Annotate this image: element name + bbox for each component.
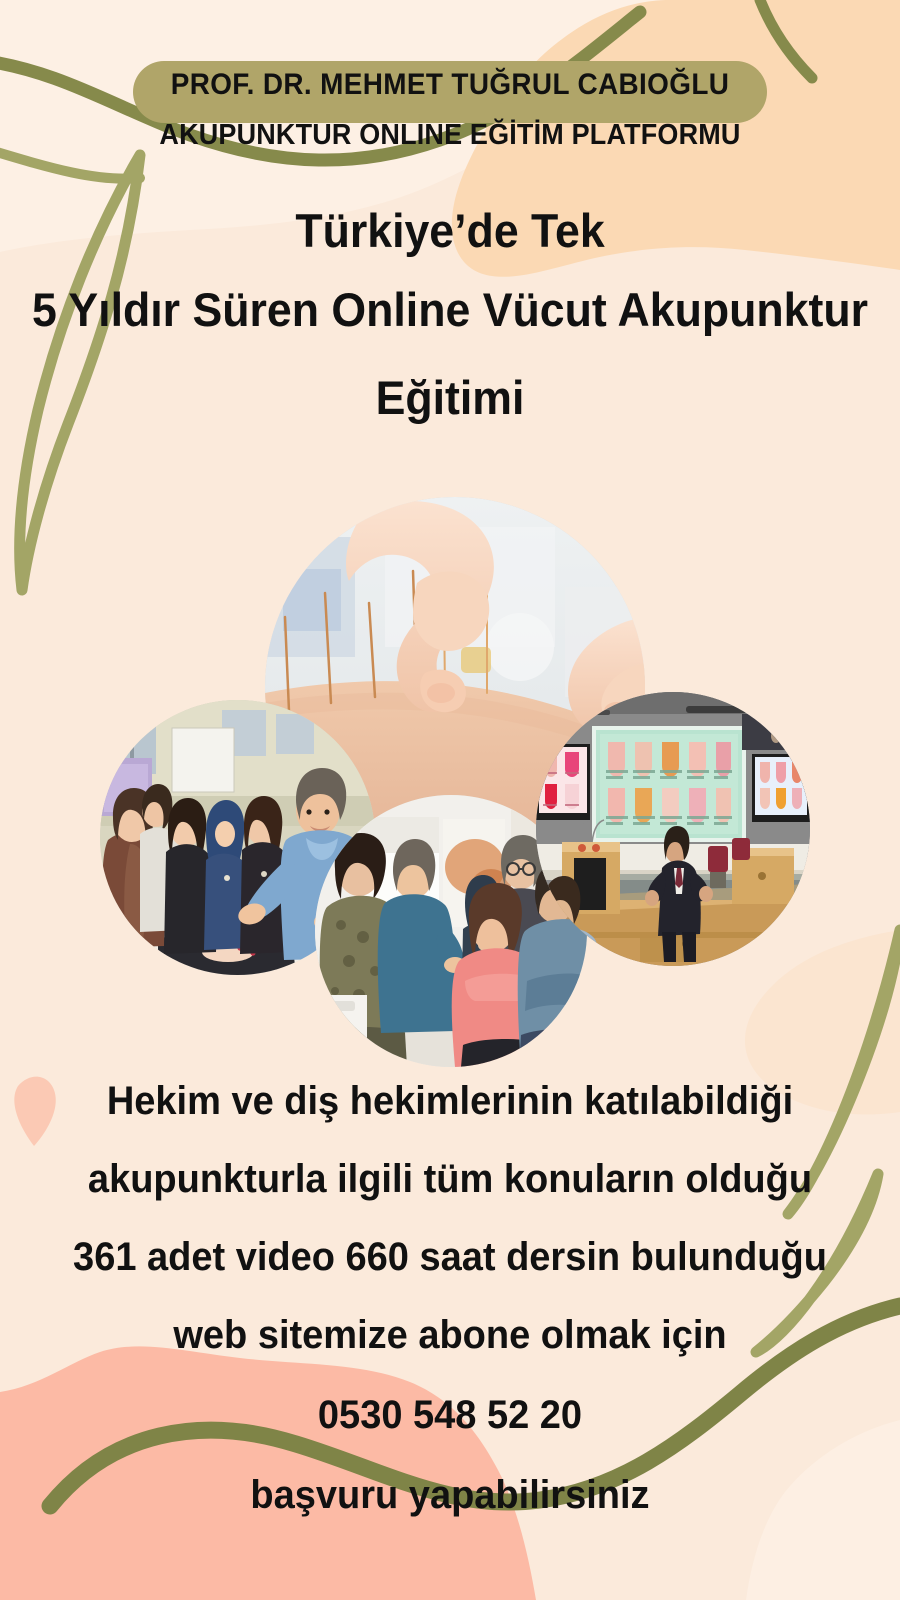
body-line-3: 361 adet video 660 saat dersin bulunduğu (23, 1218, 878, 1296)
headline-line-3: Eğitimi (23, 358, 878, 438)
platform-name: AKUPUNKTUR ONLINE EĞİTİM PLATFORMU (32, 119, 869, 152)
photo-lecture-hall-art (536, 692, 810, 966)
headline-block: Türkiye’de Tek 5 Yıldır Süren Online Vüc… (0, 200, 900, 438)
body-line-4: web sitemize abone olmak için (23, 1296, 878, 1374)
body-line-6: başvuru yapabilirsiniz (23, 1456, 878, 1534)
contact-phone-number[interactable]: 0530 548 52 20 (23, 1374, 878, 1456)
photo-lecture-hall (536, 692, 810, 966)
presenter-name: PROF. DR. MEHMET TUĞRUL CABIOĞLU (32, 68, 869, 102)
body-line-2: akupunkturla ilgili tüm konuların olduğu (23, 1140, 878, 1218)
body-copy-block: Hekim ve diş hekimlerinin katılabildiği … (0, 1062, 900, 1534)
headline-line-1: Türkiye’de Tek (23, 200, 878, 262)
poster-root: PROF. DR. MEHMET TUĞRUL CABIOĞLU AKUPUNK… (0, 0, 900, 1600)
headline-line-2: 5 Yıldır Süren Online Vücut Akupunktur (23, 262, 878, 358)
body-line-1: Hekim ve diş hekimlerinin katılabildiği (23, 1062, 878, 1140)
